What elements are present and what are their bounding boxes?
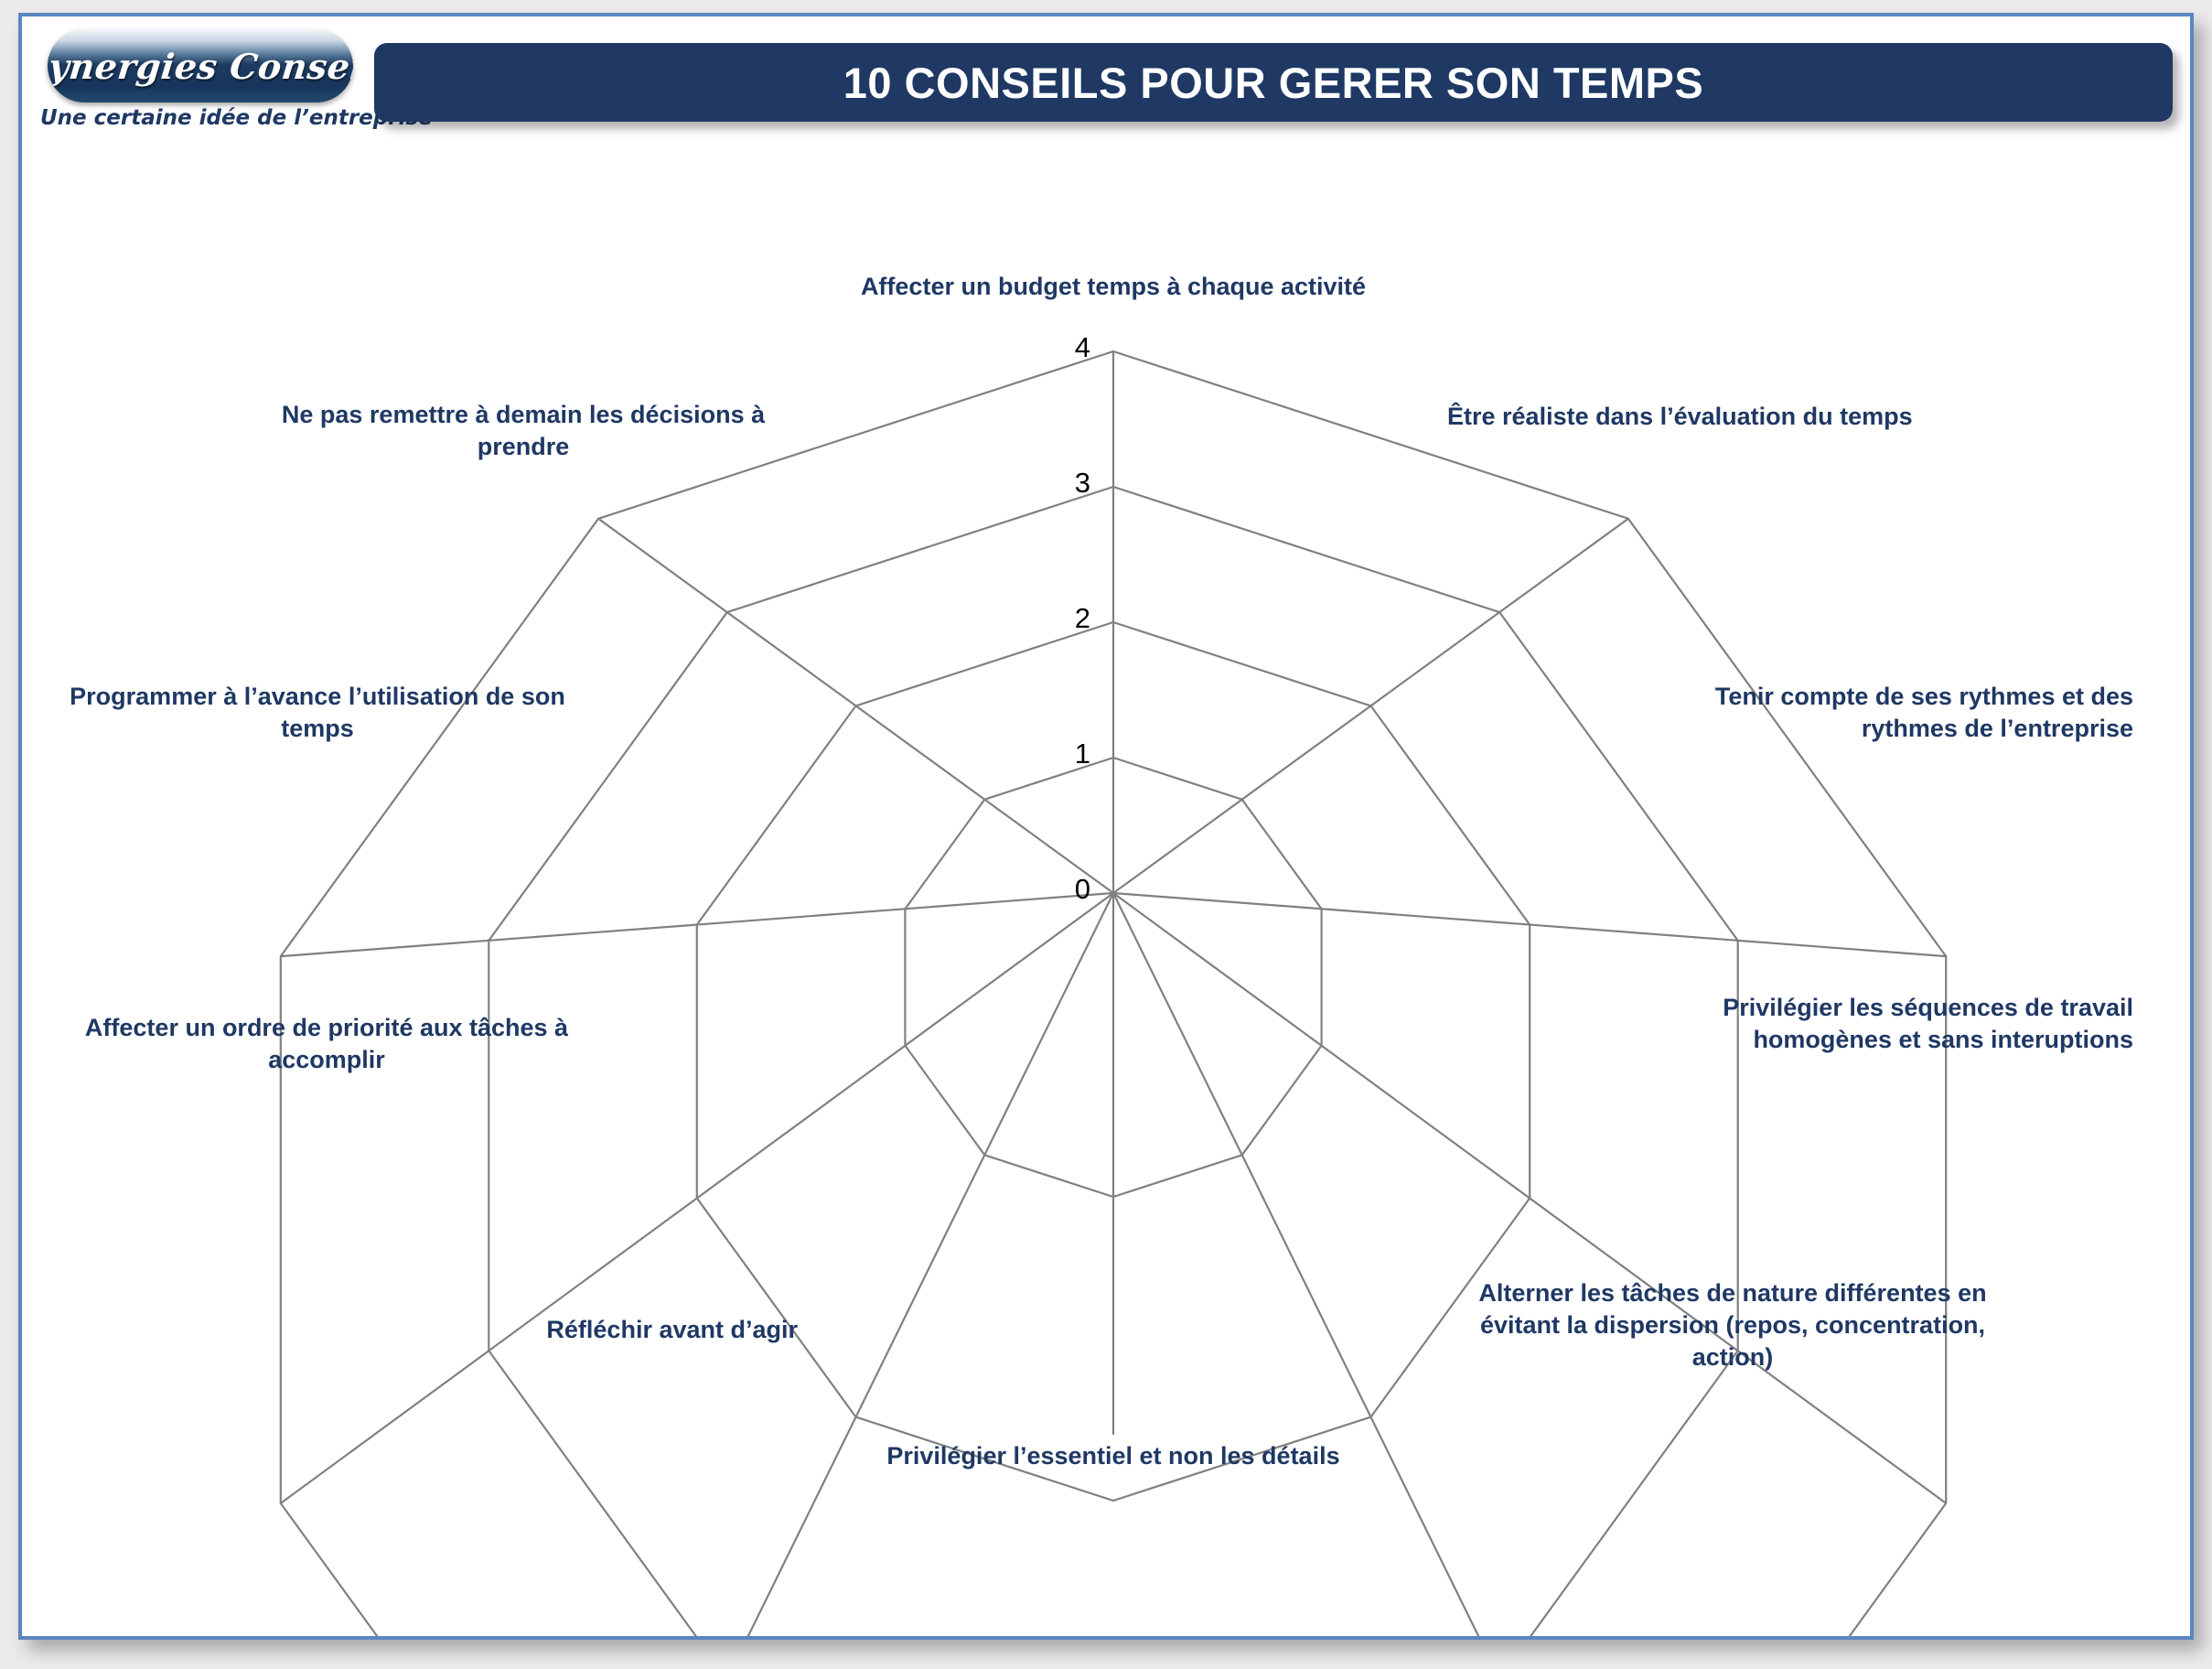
radial-tick-1: 1 — [1036, 738, 1090, 770]
radar-spoke-10 — [598, 519, 1113, 893]
logo-wordmark: Synergies Conseil — [48, 29, 353, 102]
slide-canvas: Synergies Conseil Une certaine idée de l… — [18, 13, 2194, 1640]
axis-label-8-line-0: Programmer à l’avance l’utilisation de s… — [38, 681, 596, 713]
axis-label-0-line-0: Affecter un budget temps à chaque activi… — [839, 271, 1388, 303]
axis-label-2-line-0: Tenir compte de ses rythmes et des — [1648, 681, 2133, 713]
axis-label-4-line-2: action) — [1444, 1341, 2021, 1373]
axis-label-1-line-0: Être réaliste dans l’évaluation du temps — [1447, 401, 1960, 433]
axis-label-6-line-0: Réfléchir avant d’agir — [231, 1314, 798, 1346]
radar-spoke-7 — [598, 893, 1113, 1636]
radial-tick-4: 4 — [1036, 331, 1090, 364]
radial-tick-2: 2 — [1036, 602, 1090, 635]
company-logo: Synergies Conseil Une certaine idée de l… — [40, 22, 360, 150]
radial-tick-0: 0 — [1036, 873, 1090, 906]
axis-label-9-line-0: Ne pas remettre à demain les décisions à — [249, 399, 798, 431]
axis-label-1: Être réaliste dans l’évaluation du temps — [1447, 401, 1960, 433]
axis-label-2: Tenir compte de ses rythmes et des rythm… — [1648, 681, 2133, 745]
axis-label-9-line-1: prendre — [249, 431, 798, 463]
logo-tagline: Une certaine idée de l’entreprise — [40, 106, 360, 130]
radial-tick-3: 3 — [1036, 467, 1090, 500]
axis-label-7: Affecter un ordre de priorité aux tâches… — [57, 1012, 596, 1076]
axis-label-7-line-0: Affecter un ordre de priorité aux tâches… — [57, 1012, 596, 1044]
axis-label-7-line-1: accomplir — [57, 1044, 596, 1076]
axis-label-6: Réfléchir avant d’agir — [231, 1314, 798, 1346]
title-banner: 10 CONSEILS POUR GERER SON TEMPS — [374, 43, 2173, 122]
axis-label-4-line-0: Alterner les tâches de nature différente… — [1444, 1277, 2021, 1309]
axis-label-2-line-1: rythmes de l’entreprise — [1648, 713, 2133, 745]
axis-label-8-line-1: temps — [38, 713, 596, 745]
axis-label-4: Alterner les tâches de nature différente… — [1444, 1277, 2021, 1373]
radar-spoke-5 — [1113, 893, 1628, 1636]
logo-pill-shape: Synergies Conseil — [48, 29, 353, 102]
axis-label-3-line-0: Privilégier les séquences de travail — [1648, 992, 2133, 1024]
axis-label-0: Affecter un budget temps à chaque activi… — [839, 271, 1388, 303]
axis-label-3-line-1: homogènes et sans interuptions — [1648, 1024, 2133, 1056]
radar-chart: 0 1 2 3 4 Affecter un budget temps à cha… — [22, 154, 2190, 1636]
axis-label-4-line-1: évitant la dispersion (repos, concentrat… — [1444, 1309, 2021, 1341]
axis-label-9: Ne pas remettre à demain les décisions à… — [249, 399, 798, 463]
axis-label-5: Privilégier l’essentiel et non les détai… — [839, 1440, 1388, 1472]
radar-grid-svg — [22, 154, 2190, 1636]
page-title: 10 CONSEILS POUR GERER SON TEMPS — [843, 58, 1704, 108]
axis-label-3: Privilégier les séquences de travail hom… — [1648, 992, 2133, 1056]
radar-spoke-2 — [1113, 519, 1628, 893]
axis-label-5-line-0: Privilégier l’essentiel et non les détai… — [839, 1440, 1388, 1472]
axis-label-8: Programmer à l’avance l’utilisation de s… — [38, 681, 596, 745]
